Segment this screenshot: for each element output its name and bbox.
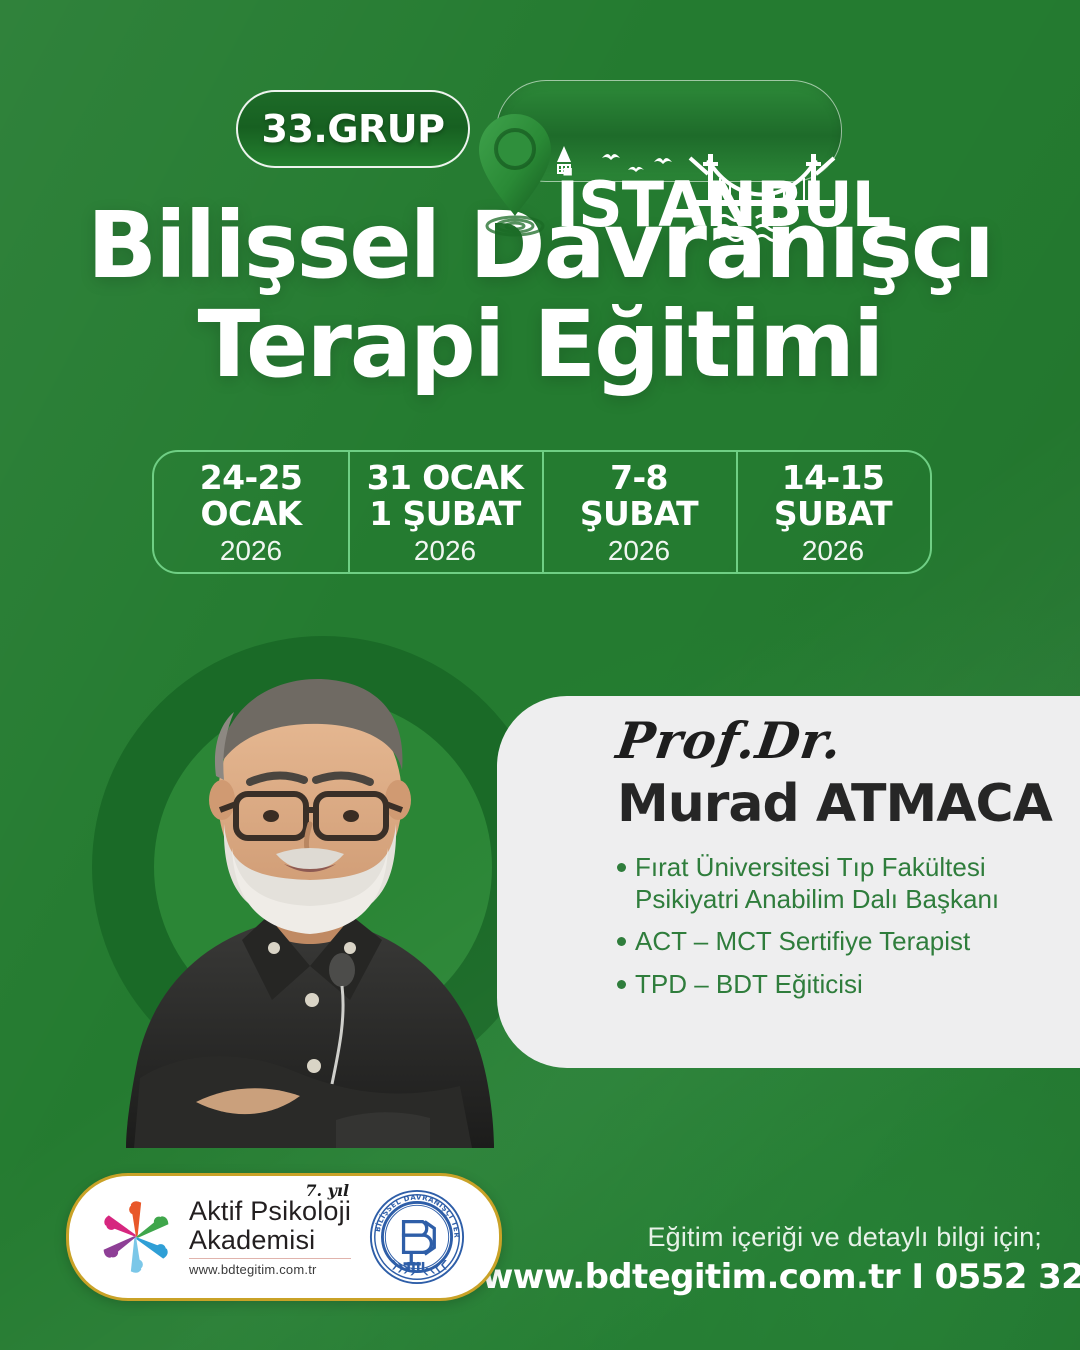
credential-item: ACT – MCT Sertifiye Terapist: [617, 926, 1064, 958]
credential-text: TPD – BDT Eğiticisi: [635, 969, 863, 1001]
speaker-info-panel: Prof.Dr. Murad ATMACA Fırat Üniversitesi…: [497, 696, 1080, 1068]
city-label: İSTANBUL: [556, 174, 890, 236]
speaker-portrait: [100, 648, 520, 1148]
group-badge-label: 33.GRUP: [262, 107, 445, 151]
date-card: 14-15 ŞUBAT 2026: [736, 452, 930, 572]
date-main: 7-8 ŞUBAT: [580, 460, 698, 531]
academy-url: www.bdtegitim.com.tr: [189, 1258, 351, 1277]
academy-anniversary: 7. yıl: [305, 1181, 349, 1200]
date-line-1: 14-15: [774, 460, 892, 496]
bdt-institute-seal-icon: BİLİŞSEL DAVRANIŞÇI TERAPİ ENSTİTÜSÜ: [369, 1189, 465, 1285]
date-main: 24-25 OCAK: [200, 460, 303, 531]
date-card: 31 OCAK 1 ŞUBAT 2026: [348, 452, 542, 572]
credential-item: TPD – BDT Eğiticisi: [617, 969, 1064, 1001]
poster-root: 33.GRUP: [0, 0, 1080, 1350]
speaker-title: Prof.Dr.: [613, 716, 1067, 766]
pinwheel-people-logo: [93, 1194, 179, 1280]
academy-name-line-1: Aktif Psikoloji: [189, 1197, 351, 1226]
date-card: 7-8 ŞUBAT 2026: [542, 452, 736, 572]
date-line-2: 1 ŞUBAT: [367, 496, 524, 532]
contact-block: Eğitim içeriği ve detaylı bilgi için; ww…: [482, 1222, 1042, 1297]
group-badge: 33.GRUP: [236, 90, 470, 168]
title-line-2: Terapi Eğitimi: [0, 295, 1080, 394]
bullet-icon: [617, 863, 626, 872]
date-year: 2026: [414, 534, 476, 568]
date-year: 2026: [802, 534, 864, 568]
credential-text: Fırat Üniversitesi Tıp Fakültesi Psikiya…: [635, 852, 1064, 915]
date-line-1: 31 OCAK: [367, 460, 524, 496]
date-card: 24-25 OCAK 2026: [154, 452, 348, 572]
bullet-icon: [617, 937, 626, 946]
header: 33.GRUP: [0, 76, 1080, 186]
contact-details[interactable]: www.bdtegitim.com.tr I 0552 322 91 11: [482, 1257, 1042, 1297]
dates-strip: 24-25 OCAK 2026 31 OCAK 1 ŞUBAT 2026 7-8…: [152, 450, 932, 574]
academy-name-line-2: Akademisi: [189, 1226, 351, 1255]
credential-text: ACT – MCT Sertifiye Terapist: [635, 926, 970, 958]
date-year: 2026: [220, 534, 282, 568]
date-main: 31 OCAK 1 ŞUBAT: [367, 460, 524, 531]
speaker-name: Murad ATMACA: [617, 778, 1064, 830]
date-line-1: 7-8: [580, 460, 698, 496]
date-main: 14-15 ŞUBAT: [774, 460, 892, 531]
speaker-credentials: Fırat Üniversitesi Tıp Fakültesi Psikiya…: [617, 852, 1064, 1001]
date-line-2: ŞUBAT: [774, 496, 892, 532]
partner-logo-box: 7. yıl Aktif Psikoloji Akademisi www.bdt…: [66, 1173, 502, 1301]
date-year: 2026: [608, 534, 670, 568]
date-line-2: ŞUBAT: [580, 496, 698, 532]
date-line-2: OCAK: [200, 496, 303, 532]
contact-intro: Eğitim içeriği ve detaylı bilgi için;: [482, 1222, 1042, 1253]
bullet-icon: [617, 980, 626, 989]
credential-item: Fırat Üniversitesi Tıp Fakültesi Psikiya…: [617, 852, 1064, 915]
academy-logotype: 7. yıl Aktif Psikoloji Akademisi www.bdt…: [189, 1197, 351, 1276]
date-line-1: 24-25: [200, 460, 303, 496]
